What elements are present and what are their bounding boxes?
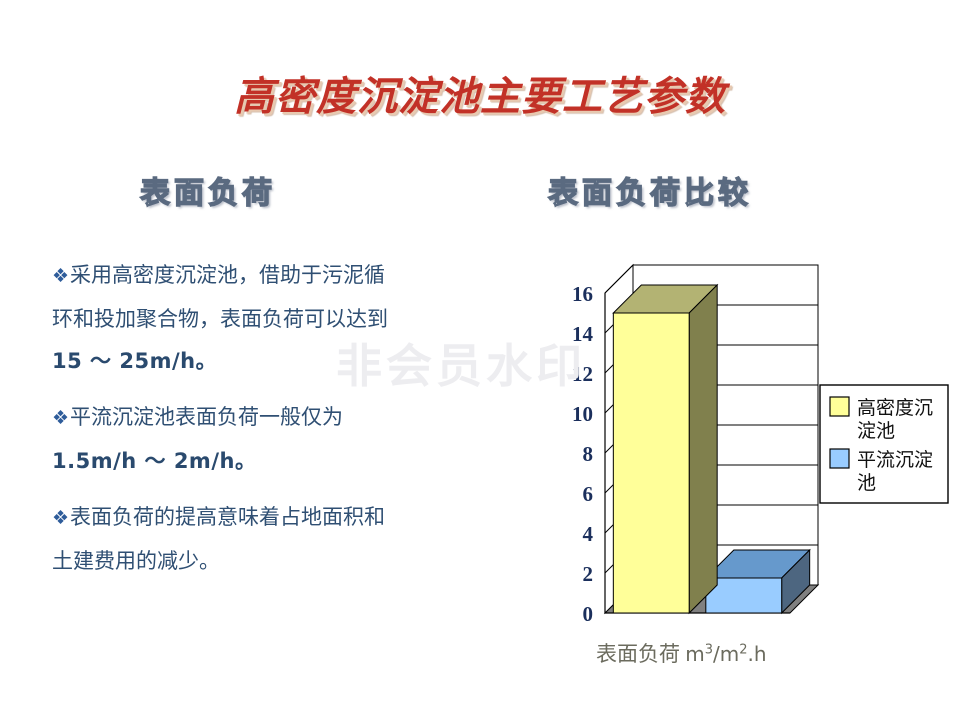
diamond-bullet-icon: ❖ (52, 408, 69, 429)
bullet-text: 15 ～ 25m/h。 (52, 349, 217, 373)
unit-exponent-2: 2 (739, 642, 747, 657)
list-item: ❖表面负荷的提高意味着占地面积和 土建费用的减少。 (52, 496, 472, 582)
bullet-list: ❖采用高密度沉淀池，借助于污泥循 环和投加聚合物，表面负荷可以达到 15 ～ 2… (52, 254, 472, 596)
bullet-text: 表面负荷的提高意味着占地面积和 (70, 505, 385, 529)
legend-label-1-cont: 淀池 (857, 420, 895, 442)
y-tick-label: 10 (572, 402, 593, 426)
y-tick-label: 12 (572, 362, 593, 386)
bar-1[interactable] (613, 285, 717, 613)
y-tick-label: 6 (583, 482, 594, 506)
bullet-text: 1.5m/h ～ 2m/h。 (52, 449, 256, 473)
bullet-text: 土建费用的减少。 (52, 549, 220, 573)
list-item: ❖采用高密度沉淀池，借助于污泥循 环和投加聚合物，表面负荷可以达到 15 ～ 2… (52, 254, 472, 382)
bar-chart: 0246810121416 高密度沉淀池平流沉淀池 (520, 228, 960, 668)
axis-unit: m3/m2.h (685, 642, 766, 666)
legend-swatch-2 (830, 449, 849, 468)
y-tick-label: 2 (583, 562, 594, 586)
diamond-bullet-icon: ❖ (52, 508, 69, 529)
bullet-line: 15 ～ 25m/h。 (52, 340, 472, 382)
bullet-line: 1.5m/h ～ 2m/h。 (52, 440, 472, 482)
bullet-text: 采用高密度沉淀池，借助于污泥循 (70, 263, 385, 287)
chart-legend[interactable]: 高密度沉淀池平流沉淀池 (820, 385, 948, 503)
bullet-text: 平流沉淀池表面负荷一般仅为 (70, 405, 343, 429)
legend-label-2-cont: 池 (857, 472, 876, 494)
bullet-line: ❖平流沉淀池表面负荷一般仅为 (52, 396, 472, 440)
chart-x-axis-label: 表面负荷 m3/m2.h (596, 638, 767, 668)
page-title: 高密度沉淀池主要工艺参数 (0, 64, 960, 122)
y-tick-label: 14 (572, 322, 594, 346)
section-heading-surface-load-comparison: 表面负荷比较 (548, 168, 752, 212)
diamond-bullet-icon: ❖ (52, 266, 69, 287)
unit-exponent-1: 3 (705, 642, 713, 657)
legend-label-2: 平流沉淀 (857, 449, 933, 471)
chart-y-axis-ticks: 0246810121416 (572, 282, 594, 626)
y-tick-label: 4 (583, 522, 594, 546)
section-heading-surface-load: 表面负荷 (140, 168, 276, 212)
legend-label-1: 高密度沉 (857, 397, 933, 419)
axis-label-text: 表面负荷 (596, 642, 680, 666)
bullet-text: 环和投加聚合物，表面负荷可以达到 (52, 307, 388, 331)
legend-swatch-1 (830, 397, 849, 416)
unit-mid: /m (713, 642, 739, 666)
y-tick-label: 16 (572, 282, 593, 306)
unit-prefix: m (685, 642, 704, 666)
bullet-line: ❖采用高密度沉淀池，借助于污泥循 (52, 254, 472, 298)
bullet-line: ❖表面负荷的提高意味着占地面积和 (52, 496, 472, 540)
y-tick-label: 8 (583, 442, 594, 466)
chart-svg: 0246810121416 高密度沉淀池平流沉淀池 (520, 228, 960, 668)
unit-suffix: .h (748, 642, 767, 666)
bullet-line: 土建费用的减少。 (52, 540, 472, 582)
y-tick-label: 0 (583, 602, 594, 626)
bullet-line: 环和投加聚合物，表面负荷可以达到 (52, 298, 472, 340)
list-item: ❖平流沉淀池表面负荷一般仅为 1.5m/h ～ 2m/h。 (52, 396, 472, 482)
